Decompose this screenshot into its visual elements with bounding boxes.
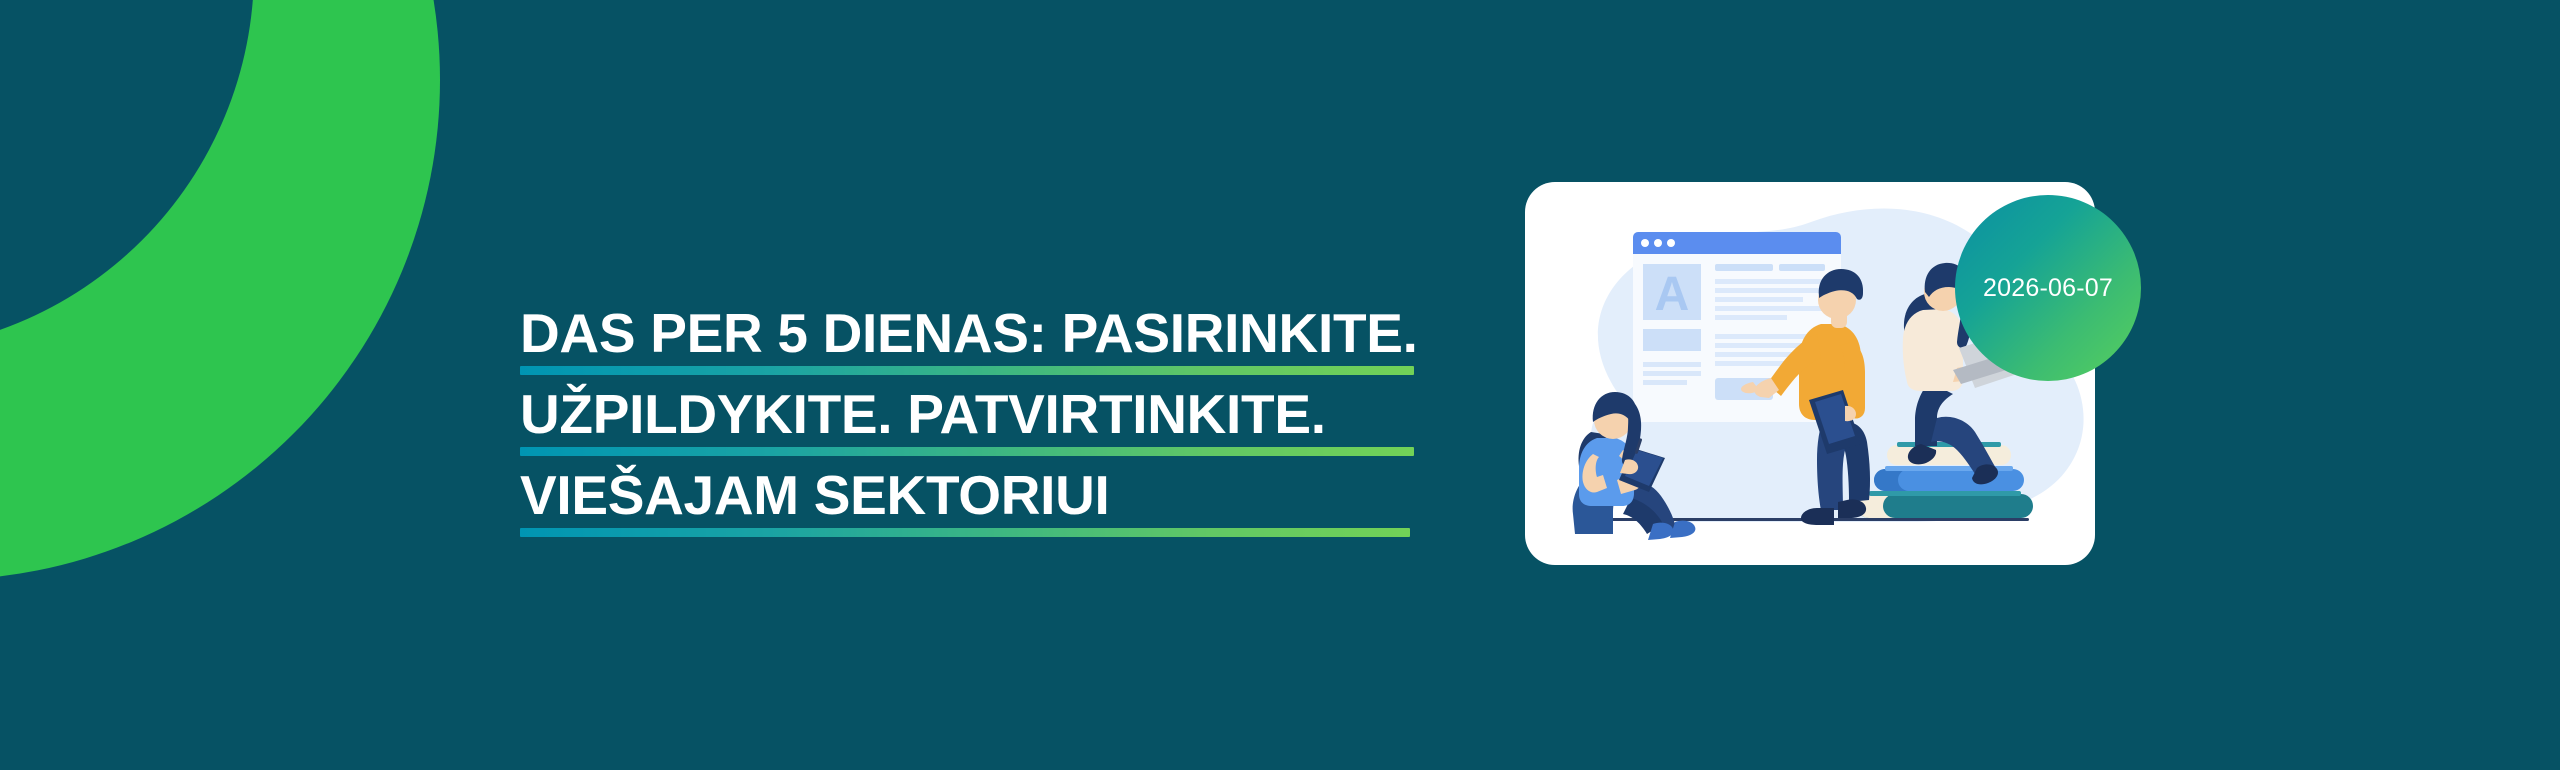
headline-line-2: UŽPILDYKITE. PATVIRTINKITE. <box>520 386 1420 443</box>
green-crescent-icon <box>0 0 440 580</box>
headline-row-2: UŽPILDYKITE. PATVIRTINKITE. <box>520 386 1420 456</box>
headline-row-1: DAS PER 5 DIENAS: PASIRINKITE. <box>520 305 1420 375</box>
headline-line-1: DAS PER 5 DIENAS: PASIRINKITE. <box>520 305 1420 362</box>
banner-root: DAS PER 5 DIENAS: PASIRINKITE. UŽPILDYKI… <box>0 0 2560 770</box>
headline-rule-1 <box>520 366 1414 375</box>
headline-rule-2 <box>520 447 1414 456</box>
headline-row-3: VIEŠAJAM SEKTORIUI <box>520 467 1420 537</box>
headline-line-3: VIEŠAJAM SEKTORIUI <box>520 467 1420 524</box>
svg-text:A: A <box>1655 268 1690 321</box>
headline-rule-3 <box>520 528 1410 537</box>
date-badge-label: 2026-06-07 <box>1983 274 2113 303</box>
date-badge: 2026-06-07 <box>1955 195 2141 381</box>
headline-block: DAS PER 5 DIENAS: PASIRINKITE. UŽPILDYKI… <box>520 305 1420 548</box>
